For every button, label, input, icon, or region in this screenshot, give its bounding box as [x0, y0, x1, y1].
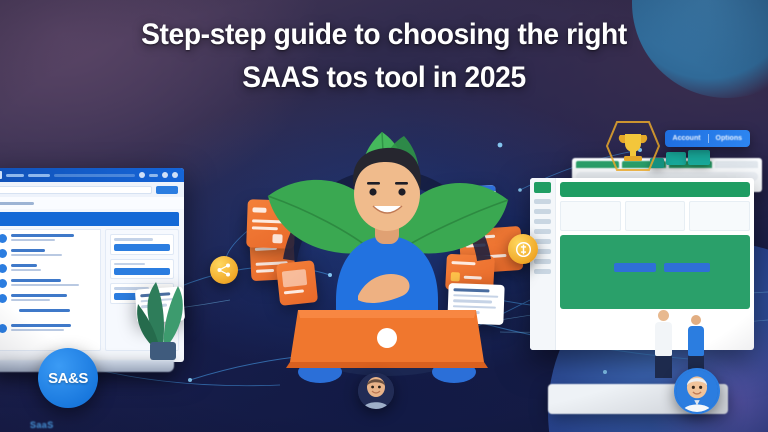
stat-card[interactable]	[560, 201, 621, 231]
stat-card[interactable]	[689, 201, 750, 231]
stat-card-row	[560, 201, 750, 231]
sidebar-logo-icon	[534, 182, 551, 193]
coin-glyph	[515, 241, 532, 258]
headline-line-2: SAAS tos tool in 2025	[49, 57, 718, 100]
new-tab-button[interactable]	[715, 161, 758, 168]
pill-secondary-label: Options	[716, 135, 742, 142]
list-item-icon	[0, 279, 7, 288]
brand-badge-label: SA&S	[48, 370, 88, 387]
sidebar-item-tasks[interactable]	[534, 219, 551, 224]
stat-card[interactable]	[625, 201, 686, 231]
menu-item[interactable]	[28, 174, 50, 177]
pill-divider	[708, 134, 709, 143]
sidebar-item-home[interactable]	[534, 199, 551, 204]
left-dashboard-filter-row[interactable]	[0, 197, 184, 209]
laptop	[286, 310, 488, 368]
list-item[interactable]	[0, 309, 96, 318]
welcome-banner	[560, 182, 750, 197]
list-item-icon	[0, 264, 7, 273]
menu-item[interactable]	[6, 174, 24, 177]
headline-line-1: Step-step guide to choosing the right	[49, 14, 718, 57]
menu-item[interactable]	[54, 174, 135, 177]
sidebar-item-files[interactable]	[534, 259, 551, 264]
list-item-icon	[0, 324, 7, 333]
share-glyph	[216, 262, 232, 278]
sidebar-item-inbox[interactable]	[534, 209, 551, 214]
promo-primary-button[interactable]	[614, 263, 656, 272]
avatar-face-icon	[676, 370, 718, 412]
brand-caption: SaaS	[30, 420, 54, 430]
promo-secondary-button[interactable]	[664, 263, 710, 272]
plant-decoration	[126, 230, 196, 360]
sidebar-item-calls[interactable]	[534, 229, 551, 234]
gear-icon[interactable]	[162, 172, 168, 178]
list-item[interactable]	[0, 324, 96, 333]
list-item-icon	[0, 294, 7, 303]
teal-card	[666, 152, 686, 165]
list-item[interactable]	[0, 234, 96, 243]
pill-primary-label: Account	[673, 135, 701, 142]
share-network-icon[interactable]	[210, 256, 238, 284]
top-right-pill-button[interactable]: Account Options	[665, 130, 750, 147]
list-item-icon	[0, 234, 7, 243]
bell-icon[interactable]	[139, 172, 145, 178]
left-dashboard-toolbar[interactable]	[0, 168, 184, 182]
avatar-right[interactable]	[674, 368, 720, 414]
list-item[interactable]	[0, 279, 96, 288]
trophy-icon	[603, 118, 663, 174]
search-button[interactable]	[156, 186, 178, 194]
list-item[interactable]	[0, 294, 96, 303]
status-text	[149, 174, 158, 177]
sidebar-item-settings[interactable]	[534, 269, 551, 274]
left-dashboard-search-row[interactable]	[0, 182, 184, 197]
hero-illustration	[262, 110, 512, 392]
app-logo-icon	[0, 171, 2, 179]
search-input[interactable]	[0, 186, 152, 194]
person-figure-left	[655, 310, 672, 378]
left-dashboard-section-header	[0, 212, 179, 226]
coin-icon[interactable]	[508, 234, 538, 264]
right-dashboard-window[interactable]	[530, 178, 754, 350]
left-dashboard-list[interactable]	[0, 229, 101, 351]
avatar-face-icon	[358, 373, 394, 409]
page-title: Step-step guide to choosing the right SA…	[0, 14, 768, 99]
avatar-icon[interactable]	[172, 172, 178, 178]
avatar-center[interactable]	[358, 373, 394, 409]
brand-badge[interactable]: SA&S	[38, 348, 98, 408]
promo-panel	[560, 235, 750, 309]
right-dashboard-sidebar[interactable]	[530, 178, 556, 350]
list-item-icon	[0, 249, 7, 258]
teal-card	[688, 150, 710, 165]
poster-canvas: Step-step guide to choosing the right SA…	[0, 0, 768, 432]
list-item[interactable]	[0, 264, 96, 273]
list-item[interactable]	[0, 249, 96, 258]
